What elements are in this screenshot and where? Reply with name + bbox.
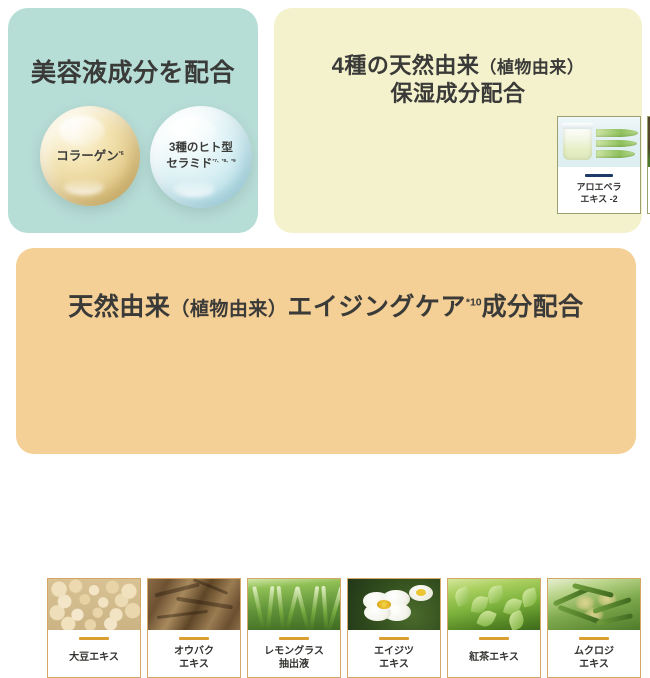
collagen-droplet: コラーゲン*6 [40,106,140,206]
ingredient-card[interactable]: エイジツ エキス [347,578,441,678]
aging-heading-pre: 天然由来 [68,293,170,321]
aging-care-panel: 天然由来（植物由来）エイジングケア*10成分配合 大豆エキス オウバク エキス [16,248,636,454]
ingredient-card[interactable]: 紅茶エキス [447,578,541,678]
collagen-footnote: *6 [119,150,124,156]
ingredient-card-label: 紅茶エキス [466,640,522,677]
collagen-label-text: コラーゲン [56,149,119,163]
label-line1: 紅茶エキス [469,651,519,664]
ingredient-card[interactable]: オウバク エキス [147,578,241,678]
moisture-heading-paren: （植物由来） [479,58,584,77]
ingredient-card-label: オウバク エキス [171,640,217,677]
ingredient-card[interactable]: アロエベラ エキス -2 [557,116,641,214]
serum-panel-heading: 美容液成分を配合 [8,57,258,89]
lemongrass-icon [248,579,340,630]
ingredient-card-label: レモングラス 抽出液 [261,640,327,677]
label-line1: 大豆エキス [69,651,119,664]
aging-heading-paren: （植物由来） [170,299,287,320]
ceramide-footnote: *7、*8、*9 [212,159,235,164]
aging-heading-mid: エイジングケア [287,293,466,321]
soybean-icon [48,579,140,630]
infographic-stage: 美容液成分を配合 コラーゲン*6 3種のヒト型 セラミド*7、*8、*9 4種の… [0,0,650,469]
label-line1: レモングラス [264,646,324,657]
label-line2: エキス [379,659,409,670]
collagen-droplet-label: コラーゲン*6 [50,148,129,165]
moisture-panel-heading: 4種の天然由来（植物由来） 保湿成分配合 [274,52,642,108]
flower-icon [348,579,440,630]
moisture-ingredients-panel: 4種の天然由来（植物由来） 保湿成分配合 アロエベラ エキス -2 [274,8,642,233]
ingredient-card-label: アロエベラ エキス -2 [573,177,624,213]
ingredient-card-label: 大豆エキス [66,640,122,677]
label-line1: ムクロジ [574,646,614,657]
label-line1: エイジツ [374,646,414,657]
label-line2: 抽出液 [279,659,309,670]
ceramide-droplet: 3種のヒト型 セラミド*7、*8、*9 [150,106,252,208]
aging-heading-post: 成分配合 [482,293,584,321]
ceramide-droplet-label: 3種のヒト型 セラミド*7、*8、*9 [160,141,241,172]
ingredient-card-label: ムクロジ エキス [571,640,617,677]
aging-heading-footnote: *10 [466,296,482,308]
moisture-heading-line2: 保湿成分配合 [390,81,525,106]
droplet-bottom-glow-icon [64,179,104,195]
ingredient-card[interactable]: レモングラス 抽出液 [247,578,341,678]
label-line1: オウバク [174,646,214,657]
label-line2: エキス [179,659,209,670]
label-line2: エキス [579,659,609,670]
droplet-highlight-icon [59,116,105,146]
aging-panel-heading: 天然由来（植物由来）エイジングケア*10成分配合 [16,291,636,323]
tea-icon [448,579,540,630]
ingredient-card-label: エイジツ エキス [371,640,417,677]
serum-ingredients-panel: 美容液成分を配合 コラーゲン*6 3種のヒト型 セラミド*7、*8、*9 [8,8,258,233]
ingredient-card[interactable]: ムクロジ エキス [547,578,641,678]
moisture-heading-pre: 4種の天然由来 [332,53,480,78]
aloe-icon [558,117,640,167]
ceramide-label-line1: 3種のヒト型 [169,142,233,154]
bark-icon [148,579,240,630]
droplet-bottom-glow-icon [174,180,215,196]
label-line2: エキス -2 [580,194,617,204]
ceramide-label-line2: セラミド [166,158,212,170]
tree-icon [548,579,640,630]
serum-droplet-group: コラーゲン*6 3種のヒト型 セラミド*7、*8、*9 [8,104,258,224]
label-line1: アロエベラ [576,182,621,192]
ingredient-card[interactable]: 大豆エキス [47,578,141,678]
